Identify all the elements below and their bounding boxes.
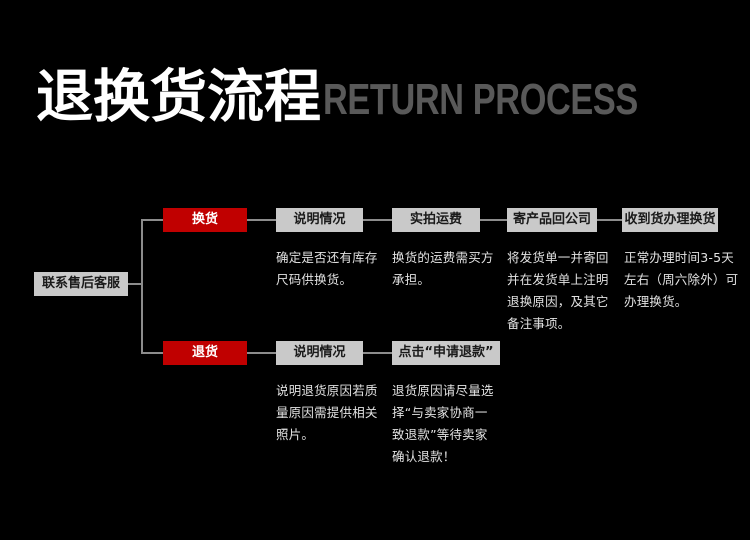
connector-branch-return: [141, 352, 163, 354]
connector-root-stub: [128, 283, 142, 285]
diagram-canvas: 退换货流程 RETURN PROCESS 联系售后客服 换货 说明情况 确定是否…: [0, 0, 750, 540]
node-exchange-step-3[interactable]: 寄产品回公司: [507, 208, 597, 232]
connector-exchange-3: [480, 219, 507, 221]
node-return-step-2[interactable]: 点击“申请退款”: [392, 341, 500, 365]
connector-return-1: [247, 352, 276, 354]
page-title: 退换货流程 RETURN PROCESS: [36, 68, 727, 126]
connector-exchange-1: [247, 219, 276, 221]
node-contact-support[interactable]: 联系售后客服: [34, 272, 128, 296]
node-exchange-step-4[interactable]: 收到货办理换货: [622, 208, 718, 232]
desc-return-step-2: 退货原因请尽量选 择“与卖家协商一 致退款”等待卖家 确认退款！: [392, 380, 504, 468]
page-title-english: RETURN PROCESS: [323, 77, 638, 123]
desc-exchange-step-1: 确定是否还有库存 尺码供换货。: [276, 247, 386, 291]
connector-bracket-vertical: [141, 219, 143, 354]
connector-exchange-4: [597, 219, 622, 221]
node-exchange-step-2[interactable]: 实拍运费: [392, 208, 480, 232]
node-exchange-step-1[interactable]: 说明情况: [276, 208, 363, 232]
desc-exchange-step-3: 将发货单一并寄回 并在发货单上注明 退换原因，及其它 备注事项。: [507, 247, 619, 335]
desc-exchange-step-2: 换货的运费需买方 承担。: [392, 247, 502, 291]
desc-return-step-1: 说明退货原因若质 量原因需提供相关 照片。: [276, 380, 386, 446]
badge-return[interactable]: 退货: [163, 341, 247, 365]
connector-return-2: [363, 352, 392, 354]
node-return-step-1[interactable]: 说明情况: [276, 341, 363, 365]
desc-exchange-step-4: 正常办理时间3-5天 左右（周六除外）可 办理换货。: [624, 247, 742, 313]
badge-exchange[interactable]: 换货: [163, 208, 247, 232]
page-title-chinese: 退换货流程: [36, 68, 321, 126]
connector-branch-exchange: [141, 219, 163, 221]
connector-exchange-2: [363, 219, 392, 221]
